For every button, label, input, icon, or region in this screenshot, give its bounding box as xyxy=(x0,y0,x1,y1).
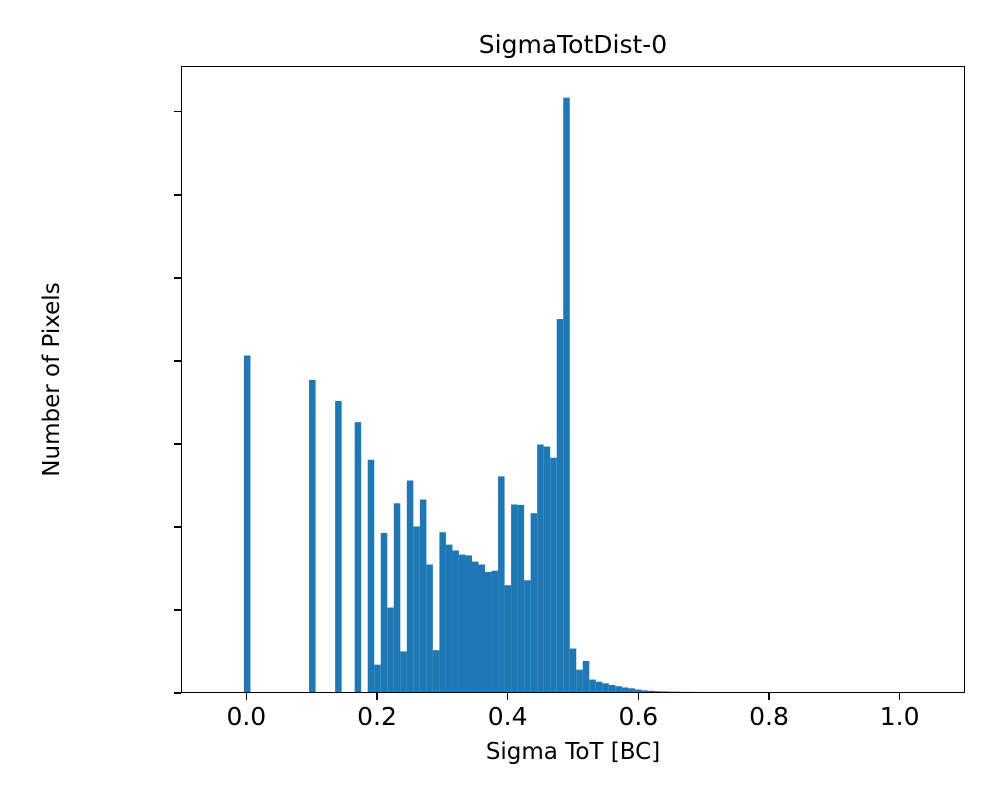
histogram-bars xyxy=(182,67,964,692)
histogram-bar xyxy=(589,680,596,692)
histogram-bar xyxy=(654,691,661,692)
histogram-bar xyxy=(550,458,557,692)
histogram-bar xyxy=(524,580,531,692)
histogram-bar xyxy=(615,686,622,692)
histogram-bar xyxy=(465,555,472,692)
histogram-bar xyxy=(628,688,635,692)
y-tick-mark xyxy=(174,194,181,196)
histogram-bar xyxy=(335,401,342,692)
histogram-bar xyxy=(648,691,655,692)
x-tick-label: 0.2 xyxy=(357,702,397,732)
histogram-bar xyxy=(518,505,525,692)
y-tick-mark xyxy=(174,609,181,611)
histogram-bar xyxy=(505,585,512,692)
histogram-bar xyxy=(433,650,440,692)
y-tick-mark xyxy=(174,526,181,528)
histogram-bar xyxy=(394,503,401,692)
histogram-bar xyxy=(485,572,492,692)
x-tick-mark xyxy=(376,693,378,700)
histogram-bar xyxy=(492,571,499,692)
histogram-bar xyxy=(420,500,427,692)
histogram-bar xyxy=(452,550,459,692)
x-tick-mark xyxy=(246,693,248,700)
y-axis-label: Number of Pixels xyxy=(38,66,66,693)
histogram-bar xyxy=(609,685,616,692)
histogram-bar xyxy=(381,533,388,692)
histogram-bar xyxy=(563,98,570,692)
histogram-bar xyxy=(426,565,433,692)
histogram-bar xyxy=(511,505,518,693)
histogram-bar xyxy=(570,649,577,692)
x-tick-label: 0.8 xyxy=(749,702,789,732)
histogram-bar xyxy=(472,562,479,692)
y-tick-mark xyxy=(174,360,181,362)
y-tick-mark xyxy=(174,277,181,279)
histogram-bar xyxy=(583,661,590,692)
histogram-bar xyxy=(244,355,251,692)
histogram-bar xyxy=(641,690,648,692)
histogram-bar xyxy=(479,565,486,692)
histogram-bar xyxy=(407,480,414,692)
histogram-bar xyxy=(635,690,642,692)
y-tick-mark xyxy=(174,111,181,113)
x-tick-label: 1.0 xyxy=(880,702,920,732)
histogram-bar xyxy=(576,670,583,692)
x-tick-mark xyxy=(638,693,640,700)
x-tick-label: 0.6 xyxy=(618,702,658,732)
histogram-bar xyxy=(537,444,544,692)
histogram-bar xyxy=(368,460,375,692)
histogram-bar xyxy=(374,665,381,692)
histogram-bar xyxy=(413,526,420,692)
x-tick-mark xyxy=(507,693,509,700)
histogram-bar xyxy=(446,545,453,692)
histogram-bar xyxy=(557,319,564,692)
histogram-bar xyxy=(498,476,505,692)
histogram-bar xyxy=(400,651,407,692)
histogram-bar xyxy=(459,555,466,692)
histogram-bar xyxy=(309,380,316,692)
histogram-bar xyxy=(531,513,538,692)
histogram-bar xyxy=(661,691,668,692)
y-tick-mark xyxy=(174,443,181,445)
y-tick-mark xyxy=(174,692,181,694)
x-tick-label: 0.4 xyxy=(488,702,528,732)
histogram-figure: SigmaTotDist-0 Number of Pixels Sigma To… xyxy=(0,0,1000,800)
histogram-bar xyxy=(355,422,362,692)
x-tick-label: 0.0 xyxy=(226,702,266,732)
histogram-bar xyxy=(387,608,394,692)
x-tick-mark xyxy=(899,693,901,700)
histogram-bar xyxy=(439,532,446,692)
chart-title: SigmaTotDist-0 xyxy=(181,30,965,60)
histogram-bar xyxy=(602,683,609,692)
histogram-bar xyxy=(544,447,551,692)
x-tick-mark xyxy=(768,693,770,700)
histogram-bar xyxy=(622,687,629,692)
plot-area xyxy=(181,66,965,693)
x-axis-label: Sigma ToT [BC] xyxy=(181,738,965,766)
histogram-bar xyxy=(596,682,603,692)
